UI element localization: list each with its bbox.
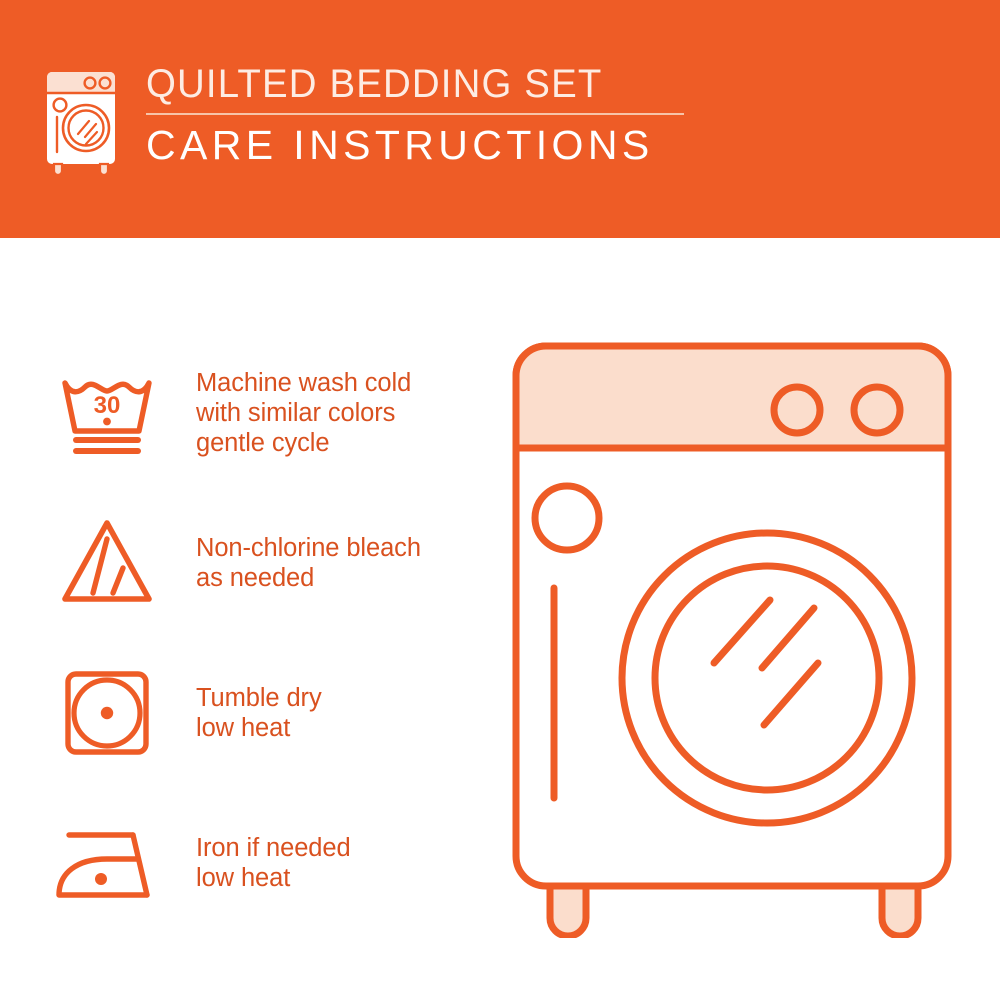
wash-temperature-value: 30 [94, 392, 121, 419]
header-banner: QUILTED BEDDING SET CARE INSTRUCTIONS [0, 0, 1000, 238]
care-row-machine-wash: 30 Machine wash cold with similar colors… [48, 338, 478, 488]
care-label-bleach: Non-chlorine bleach as needed [196, 533, 421, 593]
care-label-machine-wash: Machine wash cold with similar colors ge… [196, 368, 411, 458]
machine-foot-right [882, 886, 918, 936]
care-row-iron: Iron if needed low heat [48, 788, 478, 938]
wash-tub-30-gentle-icon: 30 [48, 361, 166, 465]
tumble-dry-low-heat-icon [48, 661, 166, 765]
care-instruction-list: 30 Machine wash cold with similar colors… [48, 338, 478, 938]
header-titles: QUILTED BEDDING SET CARE INSTRUCTIONS [146, 62, 684, 168]
washing-machine-icon [42, 68, 128, 176]
body-area: 30 Machine wash cold with similar colors… [0, 238, 1000, 1000]
care-label-tumble-dry: Tumble dry low heat [196, 683, 322, 743]
care-label-iron: Iron if needed low heat [196, 833, 351, 893]
non-chlorine-bleach-triangle-icon [48, 511, 166, 615]
iron-low-heat-icon [48, 811, 166, 915]
header-content: QUILTED BEDDING SET CARE INSTRUCTIONS [42, 62, 684, 176]
machine-foot-left [550, 886, 586, 936]
page-subtitle: CARE INSTRUCTIONS [146, 122, 684, 168]
care-row-tumble-dry: Tumble dry low heat [48, 638, 478, 788]
title-divider [146, 113, 684, 115]
care-row-bleach: Non-chlorine bleach as needed [48, 488, 478, 638]
front-load-washing-machine-illustration [492, 338, 972, 938]
page-title: QUILTED BEDDING SET [146, 62, 662, 106]
care-instructions-infographic: QUILTED BEDDING SET CARE INSTRUCTIONS 30 [0, 0, 1000, 1000]
